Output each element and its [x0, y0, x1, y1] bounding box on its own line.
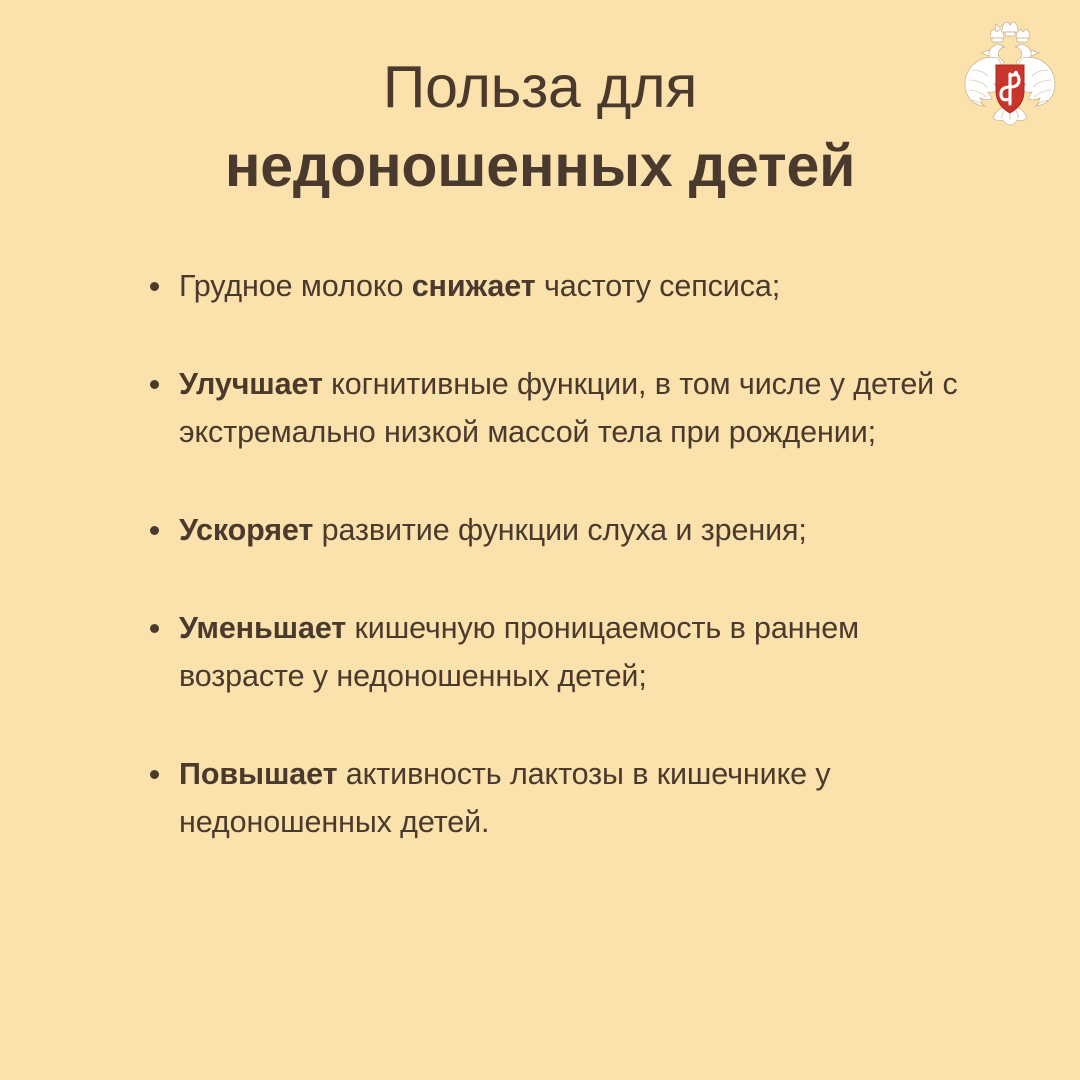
- benefits-list: Грудное молоко снижает частоту сепсиса; …: [146, 262, 976, 846]
- bullet-dot-icon: [150, 380, 159, 389]
- list-item-text: Грудное молоко снижает частоту сепсиса;: [179, 262, 976, 310]
- bullet-dot-icon: [150, 282, 159, 291]
- list-item-text: Уменьшает кишечную проницаемость в ранне…: [179, 604, 976, 700]
- poster-canvas: Польза для недоношенных детей Грудное мо…: [0, 0, 1080, 1080]
- bullet-dot-icon: [150, 770, 159, 779]
- list-item-text: Улучшает когнитивные функции, в том числ…: [179, 360, 976, 456]
- list-item: Улучшает когнитивные функции, в том числ…: [146, 360, 976, 456]
- page-title: Польза для недоношенных детей: [0, 48, 1080, 206]
- page-title-line-1: Польза для: [0, 48, 1080, 126]
- bullet-dot-icon: [150, 526, 159, 535]
- list-item-text: Повышает активность лактозы в кишечнике …: [179, 750, 976, 846]
- list-item: Повышает активность лактозы в кишечнике …: [146, 750, 976, 846]
- list-item-text: Ускоряет развитие функции слуха и зрения…: [179, 506, 976, 554]
- bullet-dot-icon: [150, 624, 159, 633]
- list-item: Ускоряет развитие функции слуха и зрения…: [146, 506, 976, 554]
- list-item: Грудное молоко снижает частоту сепсиса;: [146, 262, 976, 310]
- page-title-line-2: недоношенных детей: [0, 126, 1080, 206]
- list-item: Уменьшает кишечную проницаемость в ранне…: [146, 604, 976, 700]
